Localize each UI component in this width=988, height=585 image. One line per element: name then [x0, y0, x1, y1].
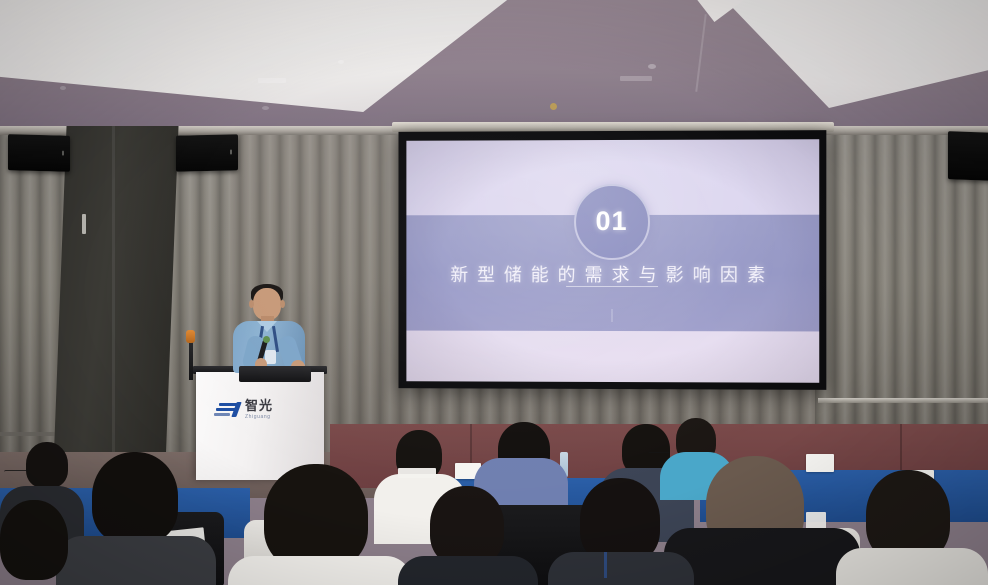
microphone-indicator: [263, 336, 270, 343]
podium-logo-text: 智光 Zhiguang: [245, 400, 273, 420]
slide-section-number: 01: [595, 206, 627, 237]
column-light-strip: [82, 214, 86, 234]
handout-paper-1: [398, 468, 436, 478]
stage-column-edge: [112, 126, 115, 466]
podium-brand-en: Zhiguang: [245, 415, 273, 420]
attendee-head: [264, 464, 368, 570]
slide-title: 新型储能的需求与影响因素: [406, 261, 819, 287]
ceiling-panel-right: [598, 0, 988, 108]
attendee-body: [836, 548, 988, 585]
projection-screen-surface: 01 新型储能的需求与影响因素: [406, 139, 819, 383]
attendee-head: [430, 486, 504, 566]
zhiguang-logo-icon: [214, 401, 240, 419]
ceiling-fixture-5: [262, 106, 269, 110]
ceiling-fixture-3: [550, 103, 557, 110]
speaker-led-left: [62, 151, 64, 156]
ceiling-seam: [695, 14, 706, 92]
microphone-stand-head: [186, 330, 195, 343]
ceiling-fixture-1: [338, 60, 344, 64]
podium-brand-cn: 智光: [245, 400, 273, 413]
attendee-head: [0, 500, 68, 580]
stage-column: [53, 126, 178, 466]
conference-photo: 01 新型储能的需求与影响因素 智光 Zhiguang: [0, 0, 988, 585]
presenter-laptop: [239, 366, 311, 382]
attendee-head: [92, 452, 178, 544]
attendee-body: [398, 556, 538, 585]
ceiling-fixture-4: [60, 86, 66, 90]
ceiling-speaker-center: [176, 134, 238, 171]
stage-curtain-right: [815, 134, 988, 464]
attendee-body: [548, 552, 694, 585]
projection-screen-frame: 01 新型储能的需求与影响因素: [398, 130, 826, 390]
name-card-2: [806, 454, 834, 472]
slide-title-tick: [611, 309, 612, 322]
attendee-body: [228, 556, 412, 585]
ceiling-fixture-2: [648, 64, 656, 69]
presenter: [225, 278, 321, 378]
attendee-lanyard: [604, 552, 607, 578]
slide-title-underline: [566, 286, 658, 287]
slide-section-number-badge: 01: [574, 183, 650, 259]
ceiling: [0, 0, 988, 132]
ceiling-vent-1: [258, 78, 286, 83]
attendee-glasses-icon: [4, 470, 28, 475]
slide-band-bottom: [406, 331, 819, 383]
attendee-glasses-icon: [648, 452, 670, 457]
ceiling-vent-2: [620, 76, 652, 81]
presenter-ear-left: [249, 300, 254, 308]
presenter-ear-right: [280, 300, 285, 308]
ceiling-panel-left: [0, 0, 520, 112]
attendee-body: [56, 536, 216, 585]
curtain-rail-right-upper: [818, 398, 988, 403]
attendee-head: [26, 442, 68, 488]
ceiling-speaker-right: [948, 131, 988, 181]
podium-logo: 智光 Zhiguang: [214, 400, 273, 420]
ceiling-speaker-left: [8, 134, 70, 172]
speaker-led-center: [230, 149, 232, 154]
